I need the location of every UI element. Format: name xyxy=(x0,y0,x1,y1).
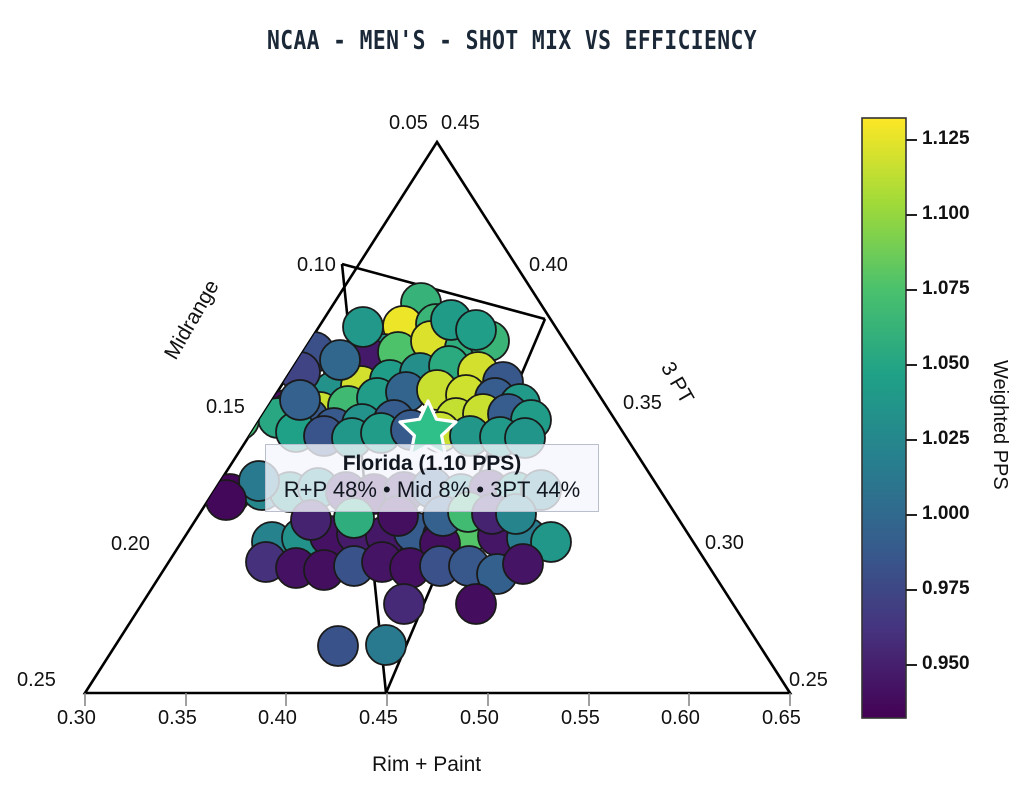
scatter-point xyxy=(456,584,496,624)
left-tick-0-15: 0.15 xyxy=(206,396,245,419)
bottom-axis-title: Rim + Paint xyxy=(372,753,481,777)
bottom-tick-0-45: 0.45 xyxy=(359,707,398,730)
right-tick-0-35: 0.35 xyxy=(623,392,662,415)
right-tick-0-40: 0.40 xyxy=(529,254,568,277)
scatter-point xyxy=(366,625,406,665)
scatter-point xyxy=(280,380,320,420)
scatter-point xyxy=(318,626,358,666)
annotation-team-line: Florida (1.10 PPS) xyxy=(280,451,584,477)
bottom-tick-0-65: 0.65 xyxy=(762,707,801,730)
colorbar-tick-0-950: 0.950 xyxy=(922,653,970,675)
colorbar-tick-1-025: 1.025 xyxy=(922,428,970,450)
bottom-tick-0-60: 0.60 xyxy=(661,707,700,730)
scatter-point xyxy=(456,310,496,350)
scatter-point xyxy=(206,480,246,520)
colorbar-tick-1-100: 1.100 xyxy=(922,203,970,225)
left-tick-0-10: 0.10 xyxy=(297,254,336,277)
apex-left-tick-label: 0.05 xyxy=(389,112,428,135)
bottom-tick-0-55: 0.55 xyxy=(561,707,600,730)
left-tick-0-20: 0.20 xyxy=(111,533,150,556)
bottom-tick-0-40: 0.40 xyxy=(258,707,297,730)
annotation-mix-line: R+P 48% • Mid 8% • 3PT 44% xyxy=(280,477,584,504)
scatter-point xyxy=(384,584,424,624)
colorbar-tick-1-125: 1.125 xyxy=(922,128,970,150)
bottom-right-corner-label: 0.25 xyxy=(789,669,828,692)
colorbar-tick-0-975: 0.975 xyxy=(922,578,970,600)
colorbar-tick-1-075: 1.075 xyxy=(922,278,970,300)
apex-right-tick-label: 0.45 xyxy=(441,112,480,135)
colorbar-tick-1-000: 1.000 xyxy=(922,503,970,525)
colorbar-title: Weighted PPS xyxy=(988,360,1011,490)
scatter-point xyxy=(503,544,543,584)
bottom-tick-0-30: 0.30 xyxy=(57,707,96,730)
bottom-left-corner-label: 0.25 xyxy=(17,669,56,692)
scatter-point xyxy=(320,340,360,380)
colorbar-tick-1-050: 1.050 xyxy=(922,353,970,375)
colorbar-gradient xyxy=(862,118,906,718)
right-tick-0-30: 0.30 xyxy=(705,532,744,555)
highlight-annotation-box: Florida (1.10 PPS) R+P 48% • Mid 8% • 3P… xyxy=(265,444,599,512)
colorbar-ticks xyxy=(906,140,917,665)
bottom-axis-ticks xyxy=(85,693,790,706)
bottom-tick-0-50: 0.50 xyxy=(460,707,499,730)
scatter-point xyxy=(343,307,383,347)
bottom-tick-0-35: 0.35 xyxy=(158,707,197,730)
ternary-plot-canvas xyxy=(0,0,1024,801)
